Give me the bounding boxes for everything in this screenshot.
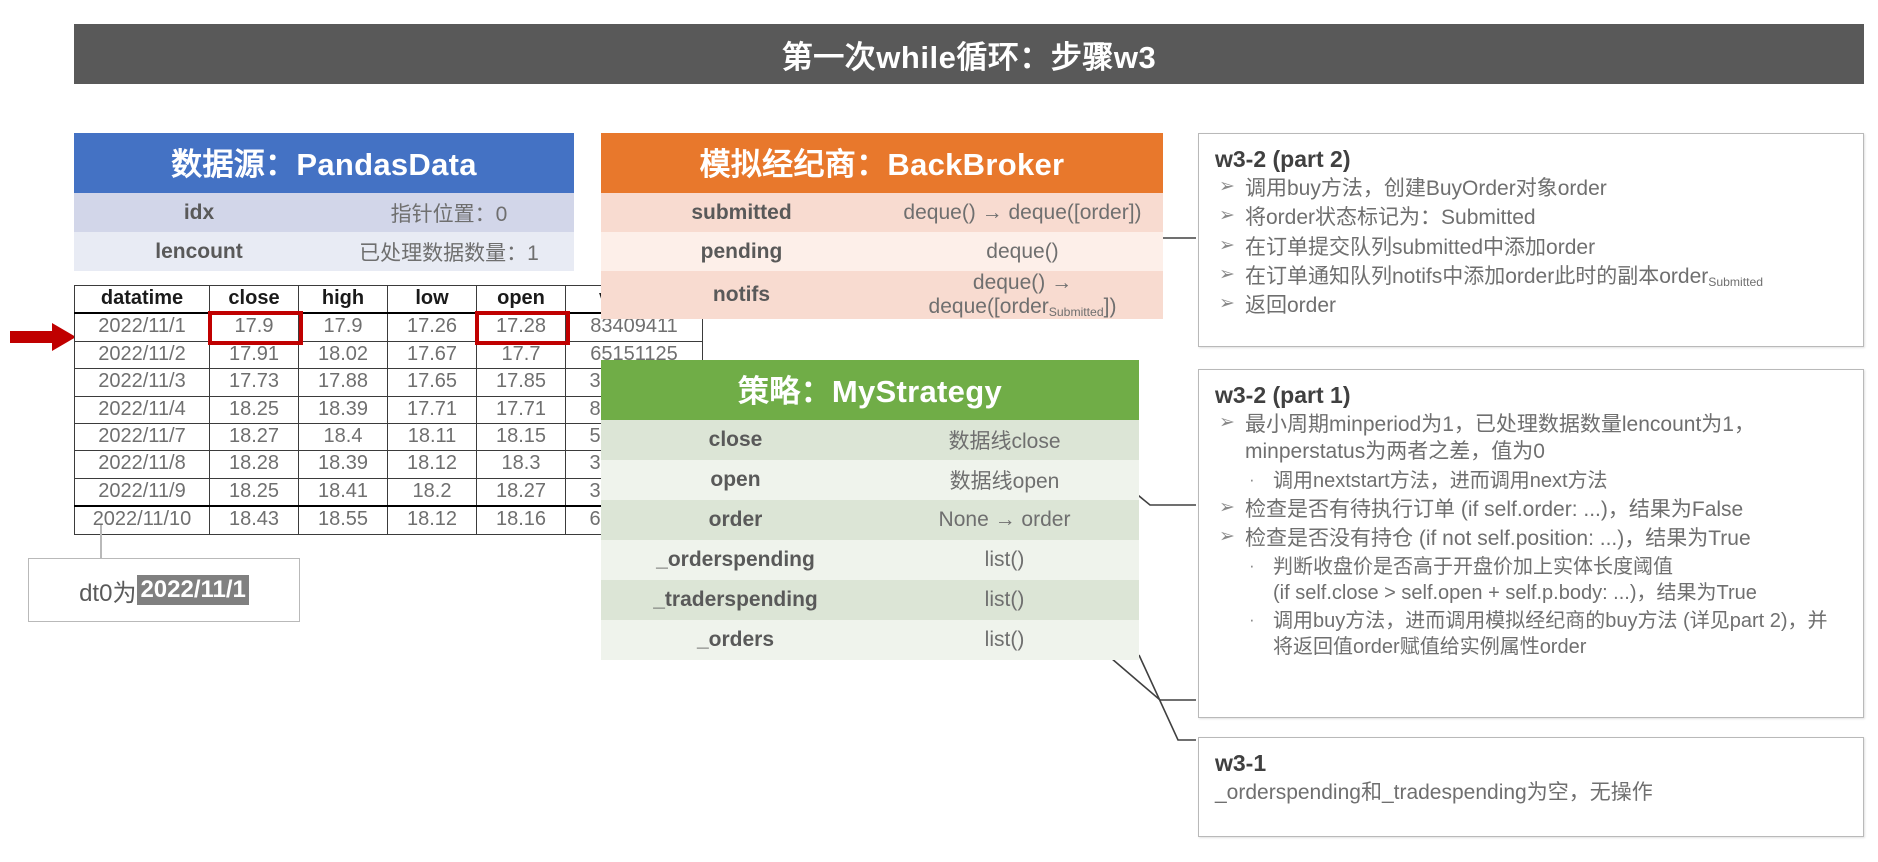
table-row: _orders list() [601,620,1139,660]
strategy-key-orders: _orders [601,620,870,660]
cell-high: 18.55 [299,506,388,534]
strategy-key-traderspending: _traderspending [601,580,870,620]
note-item-text: 检查是否没有持仓 (if not self.position: ...)，结果为… [1245,527,1751,550]
note-w3-2-part1: w3-2 (part 1) ➢最小周期minperiod为1，已处理数据数量le… [1198,369,1864,718]
note-item-text: 检查是否有待执行订单 (if self.order: ...)，结果为False [1245,498,1743,521]
cell-open: 17.85 [477,369,566,396]
cell-close: 17.9 [210,313,299,341]
broker-key-notifs: notifs [601,271,882,319]
dt0-label: dt0为 [79,573,136,608]
cell-high: 18.4 [299,423,388,450]
cell-close: 17.91 [210,341,299,368]
note-w3-1: w3-1 _orderspending和_tradespending为空，无操作 [1198,737,1864,837]
cell-close: 18.25 [210,396,299,423]
mystrategy-card: 策略：MyStrategy close 数据线close open 数据线ope… [601,360,1139,660]
pandasdata-header: 数据源：PandasData [74,133,574,193]
table-row: notifs deque() → deque([orderSubmitted]) [601,271,1163,319]
cell-low: 17.65 [388,369,477,396]
broker-value-submitted: deque() → deque([order]) [882,193,1163,232]
callout-leader-line [100,525,102,559]
bullet-arrow-icon: ➢ [1219,175,1235,200]
cell-datatime: 2022/11/7 [75,423,210,450]
cell-close: 18.43 [210,506,299,534]
note-item: ➢在订单通知队列notifs中添加order此时的副本orderSubmitte… [1215,263,1847,290]
note-item-text: 判断收盘价是否高于开盘价加上实体长度阈值(if self.close > sel… [1273,556,1757,604]
strategy-key-close: close [601,420,870,460]
table-row: idx 指针位置：0 [74,193,574,232]
cell-datatime: 2022/11/9 [75,478,210,506]
cell-datatime: 2022/11/10 [75,506,210,534]
dt0-value: 2022/11/1 [137,575,248,605]
bullet-arrow-icon: ➢ [1219,525,1235,550]
cell-open: 17.7 [477,341,566,368]
pandas-key-lencount: lencount [74,232,324,271]
col-high: high [299,286,388,314]
cell-close: 17.73 [210,369,299,396]
bullet-arrow-icon: ➢ [1219,234,1235,259]
note-title: w3-1 [1215,750,1847,777]
cell-datatime: 2022/11/8 [75,451,210,478]
table-row: pending deque() [601,232,1163,271]
cell-high: 17.9 [299,313,388,341]
cell-open: 18.27 [477,478,566,506]
strategy-key-orderspending: _orderspending [601,540,870,580]
strategy-value-order: None → order [870,500,1139,540]
cell-open: 18.3 [477,451,566,478]
note-list: ➢调用buy方法，创建BuyOrder对象order➢将order状态标记为：S… [1215,175,1847,319]
bullet-arrow-icon: ➢ [1219,496,1235,521]
strategy-key-order: order [601,500,870,540]
col-low: low [388,286,477,314]
cell-datatime: 2022/11/2 [75,341,210,368]
cell-low: 18.2 [388,478,477,506]
note-list: ➢最小周期minperiod为1，已处理数据数量lencount为1，minpe… [1215,411,1847,660]
table-row: open 数据线open [601,460,1139,500]
table-row: submitted deque() → deque([order]) [601,193,1163,232]
cell-high: 18.39 [299,451,388,478]
strategy-value-orders: list() [870,620,1139,660]
slide-canvas: 第一次while循环：步骤w3 数据源：PandasData idx 指针位置：… [0,0,1878,862]
bullet-dot-icon: · [1249,609,1255,631]
cell-open: 17.28 [477,313,566,341]
note-item: ➢在订单提交队列submitted中添加order [1215,234,1847,261]
note-title: w3-2 (part 1) [1215,382,1847,409]
note-item-text: 调用nextstart方法，进而调用next方法 [1273,470,1608,492]
note-item-text: 返回order [1245,294,1336,317]
broker-value-pending: deque() [882,232,1163,271]
cell-close: 18.25 [210,478,299,506]
dt0-callout: dt0为2022/11/1 [28,558,300,622]
bullet-dot-icon: · [1249,555,1255,577]
note-item: ·判断收盘价是否高于开盘价加上实体长度阈值(if self.close > se… [1215,554,1847,606]
bullet-arrow-icon: ➢ [1219,411,1235,436]
note-item: ➢检查是否没有持仓 (if not self.position: ...)，结果… [1215,525,1847,552]
broker-key-submitted: submitted [601,193,882,232]
broker-key-pending: pending [601,232,882,271]
table-row: lencount 已处理数据数量：1 [74,232,574,271]
cell-low: 17.67 [388,341,477,368]
strategy-value-close: 数据线close [870,420,1139,460]
note-item-text: 在订单通知队列notifs中添加order此时的副本orderSubmitted [1245,265,1763,288]
cell-high: 17.88 [299,369,388,396]
bullet-dot-icon: · [1249,469,1255,491]
note-item: ·调用buy方法，进而调用模拟经纪商的buy方法 (详见part 2)，并将返回… [1215,608,1847,660]
cell-datatime: 2022/11/1 [75,313,210,341]
note-item: ➢调用buy方法，创建BuyOrder对象order [1215,175,1847,202]
cell-close: 18.27 [210,423,299,450]
col-datatime: datatime [75,286,210,314]
note-body: _orderspending和_tradespending为空，无操作 [1215,779,1847,806]
note-item-text: 将order状态标记为：Submitted [1245,206,1536,229]
note-item-text: 最小周期minperiod为1，已处理数据数量lencount为1，minper… [1245,413,1755,463]
bullet-arrow-icon: ➢ [1219,292,1235,317]
note-item: ➢检查是否有待执行订单 (if self.order: ...)，结果为Fals… [1215,496,1847,523]
note-w3-2-part2: w3-2 (part 2) ➢调用buy方法，创建BuyOrder对象order… [1198,133,1864,347]
strategy-key-open: open [601,460,870,500]
pandas-value-idx: 指针位置：0 [324,193,574,232]
table-row: _orderspending list() [601,540,1139,580]
cell-high: 18.39 [299,396,388,423]
note-item-subscript: Submitted [1708,275,1763,289]
strategy-value-orderspending: list() [870,540,1139,580]
cell-datatime: 2022/11/3 [75,369,210,396]
note-title: w3-2 (part 2) [1215,146,1847,173]
page-title: 第一次while循环：步骤w3 [74,24,1864,84]
note-item: ➢返回order [1215,292,1847,319]
cell-low: 18.11 [388,423,477,450]
note-item: ➢最小周期minperiod为1，已处理数据数量lencount为1，minpe… [1215,411,1847,466]
backbroker-card: 模拟经纪商：BackBroker submitted deque() → deq… [601,133,1163,319]
cell-low: 17.71 [388,396,477,423]
note-item: ·调用nextstart方法，进而调用next方法 [1215,468,1847,494]
pandas-value-lencount: 已处理数据数量：1 [324,232,574,271]
cell-high: 18.02 [299,341,388,368]
col-open: open [477,286,566,314]
strategy-value-open: 数据线open [870,460,1139,500]
broker-value-notifs: deque() → deque([orderSubmitted]) [882,271,1163,319]
strategy-value-traderspending: list() [870,580,1139,620]
cell-open: 17.71 [477,396,566,423]
cell-close: 18.28 [210,451,299,478]
table-row: order None → order [601,500,1139,540]
bullet-arrow-icon: ➢ [1219,204,1235,229]
cell-low: 18.12 [388,506,477,534]
cell-high: 18.41 [299,478,388,506]
mystrategy-header: 策略：MyStrategy [601,360,1139,420]
table-row: close 数据线close [601,420,1139,460]
cell-low: 17.26 [388,313,477,341]
pandas-key-idx: idx [74,193,324,232]
cell-low: 18.12 [388,451,477,478]
note-item-text: 调用buy方法，创建BuyOrder对象order [1245,177,1607,200]
cell-open: 18.16 [477,506,566,534]
col-close: close [210,286,299,314]
table-row: _traderspending list() [601,580,1139,620]
arrow-right-icon [10,322,76,352]
cell-open: 18.15 [477,423,566,450]
note-item-text: 在订单提交队列submitted中添加order [1245,236,1595,259]
note-item-text: 调用buy方法，进而调用模拟经纪商的buy方法 (详见part 2)，并将返回值… [1273,610,1828,658]
bullet-arrow-icon: ➢ [1219,263,1235,288]
note-item: ➢将order状态标记为：Submitted [1215,204,1847,231]
backbroker-header: 模拟经纪商：BackBroker [601,133,1163,193]
pandasdata-card: 数据源：PandasData idx 指针位置：0 lencount 已处理数据… [74,133,574,271]
cell-datatime: 2022/11/4 [75,396,210,423]
